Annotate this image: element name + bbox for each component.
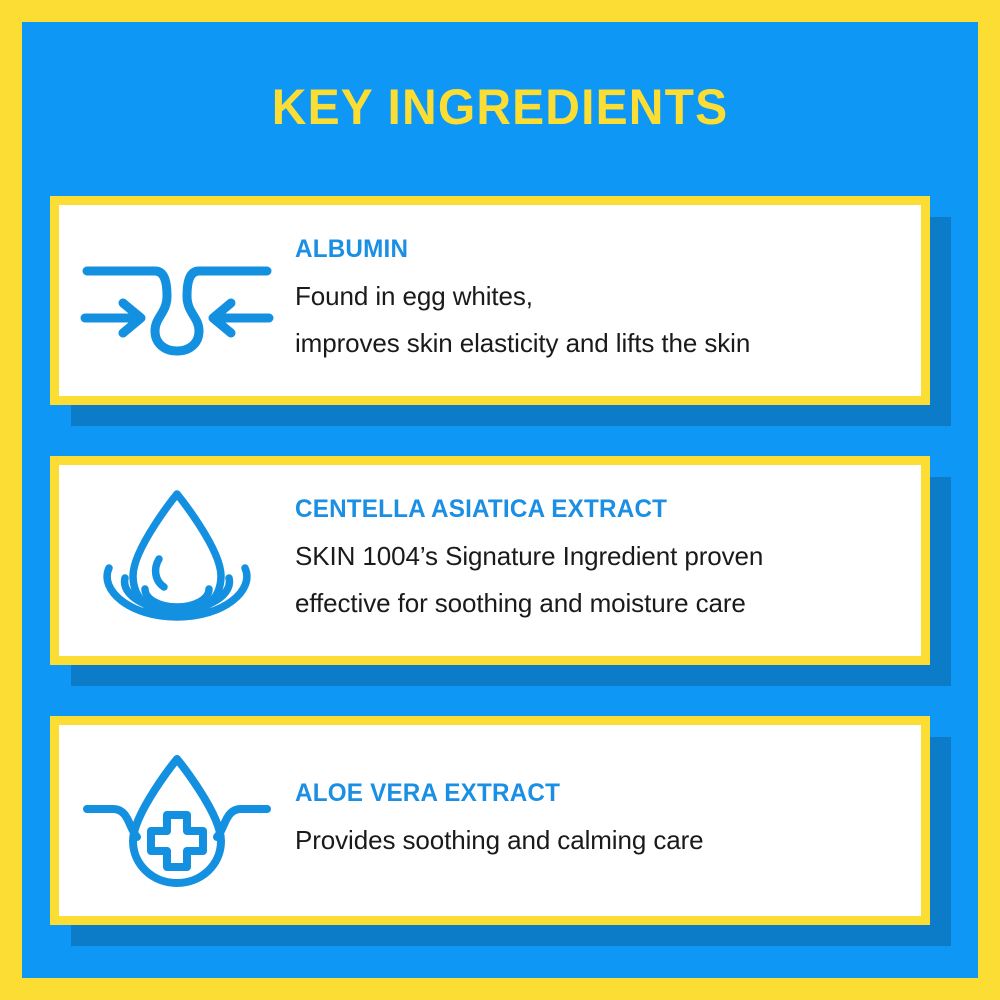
ingredient-description: Found in egg whites, improves skin elast… xyxy=(295,273,905,367)
description-line: effective for soothing and moisture care xyxy=(295,580,905,627)
ingredient-description: SKIN 1004’s Signature Ingredient proven … xyxy=(295,533,905,627)
card-surface: ALOE VERA EXTRACT Provides soothing and … xyxy=(50,716,930,925)
card-surface: CENTELLA ASIATICA EXTRACT SKIN 1004’s Si… xyxy=(50,456,930,665)
ingredient-list: ALBUMIN Found in egg whites, improves sk… xyxy=(50,196,974,925)
poster: KEY INGREDIENTS xyxy=(0,0,1000,1000)
card-text: ALBUMIN Found in egg whites, improves sk… xyxy=(295,234,921,367)
ingredient-name: ALOE VERA EXTRACT xyxy=(295,778,887,808)
pore-tightening-icon xyxy=(59,205,295,396)
description-line: Provides soothing and calming care xyxy=(295,817,905,864)
card-text: CENTELLA ASIATICA EXTRACT SKIN 1004’s Si… xyxy=(295,494,921,627)
droplet-medical-cross-icon xyxy=(59,725,295,916)
ingredient-card-centella-asiatica-extract[interactable]: CENTELLA ASIATICA EXTRACT SKIN 1004’s Si… xyxy=(50,456,930,665)
page-title: KEY INGREDIENTS xyxy=(41,79,959,135)
ingredient-card-albumin[interactable]: ALBUMIN Found in egg whites, improves sk… xyxy=(50,196,930,405)
card-surface: ALBUMIN Found in egg whites, improves sk… xyxy=(50,196,930,405)
ingredient-name: ALBUMIN xyxy=(295,234,887,264)
card-text: ALOE VERA EXTRACT Provides soothing and … xyxy=(295,778,921,864)
blue-panel: KEY INGREDIENTS xyxy=(22,22,978,978)
ingredient-description: Provides soothing and calming care xyxy=(295,817,905,864)
description-line: improves skin elasticity and lifts the s… xyxy=(295,320,905,367)
water-droplet-ripple-icon xyxy=(59,465,295,656)
ingredient-card-aloe-vera-extract[interactable]: ALOE VERA EXTRACT Provides soothing and … xyxy=(50,716,930,925)
description-line: SKIN 1004’s Signature Ingredient proven xyxy=(295,533,905,580)
ingredient-name: CENTELLA ASIATICA EXTRACT xyxy=(295,494,887,524)
description-line: Found in egg whites, xyxy=(295,273,905,320)
